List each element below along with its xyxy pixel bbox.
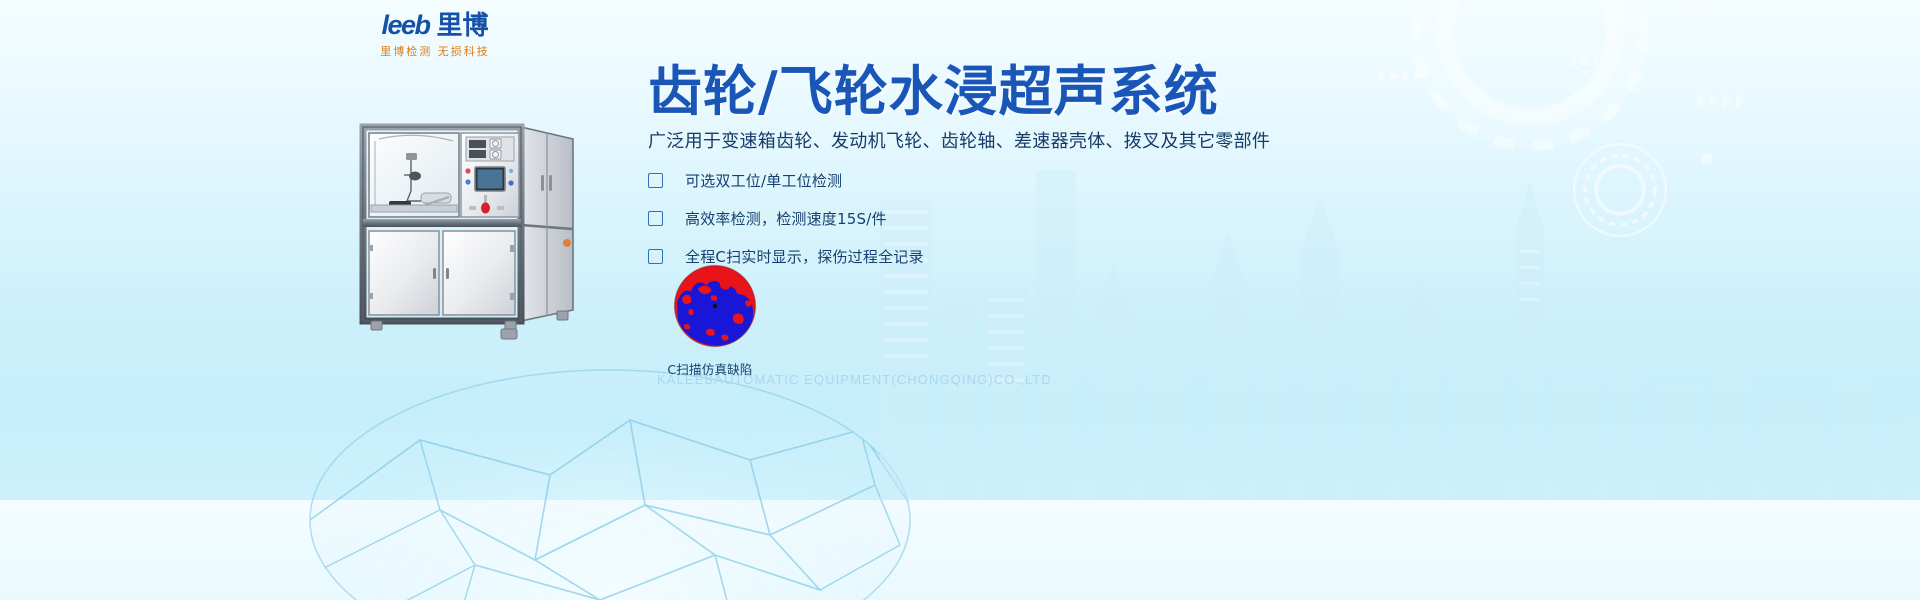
gear-outline-icon: [1380, 0, 1680, 182]
target-dot-icon: [1690, 0, 1708, 14]
company-watermark: KALEEBAUTOMATIC EQUIPMENT(CHONGQING)CO.,…: [657, 372, 1052, 387]
target-dot-icon: [1572, 48, 1598, 74]
feature-label: 可选双工位/单工位检测: [685, 170, 842, 191]
page-subtitle: 广泛用于变速箱齿轮、发动机飞轮、齿轮轴、差速器壳体、拨叉及其它零部件: [648, 127, 1270, 153]
feature-list: 可选双工位/单工位检测 高效率检测，检测速度15S/件 全程C扫实时显示，探伤过…: [648, 163, 924, 277]
brand-logo-main: leeb 里博: [345, 5, 525, 42]
hero-banner: leeb 里博 里博检测 无损科技: [0, 0, 1920, 500]
checkbox-icon[interactable]: [648, 173, 663, 188]
brand-logo-latin: leeb: [381, 10, 429, 41]
cscan-sample: C扫描仿真缺陷: [672, 263, 758, 378]
list-item[interactable]: 可选双工位/单工位检测: [648, 163, 924, 197]
brand-tagline: 里博检测 无损科技: [345, 43, 525, 59]
city-skyline-icon: [880, 170, 1920, 500]
brand-logo[interactable]: leeb 里博 里博检测 无损科技: [345, 5, 525, 59]
chevron-arrows-icon: [1378, 68, 1426, 84]
gear-outline-icon: [1565, 135, 1675, 245]
dot-icon: [1700, 152, 1714, 166]
checkbox-icon[interactable]: [648, 211, 663, 226]
feature-label: 高效率检测，检测速度15S/件: [685, 208, 887, 229]
checkbox-icon[interactable]: [648, 249, 663, 264]
brand-logo-chinese: 里博: [437, 5, 489, 42]
cscan-defect-image: [672, 263, 758, 349]
chevron-arrows-icon: [1697, 92, 1749, 110]
list-item[interactable]: 高效率检测，检测速度15S/件: [648, 201, 924, 235]
product-photo-ultrasonic-machine: [345, 105, 585, 345]
page-title: 齿轮/飞轮水浸超声系统: [648, 47, 1219, 126]
